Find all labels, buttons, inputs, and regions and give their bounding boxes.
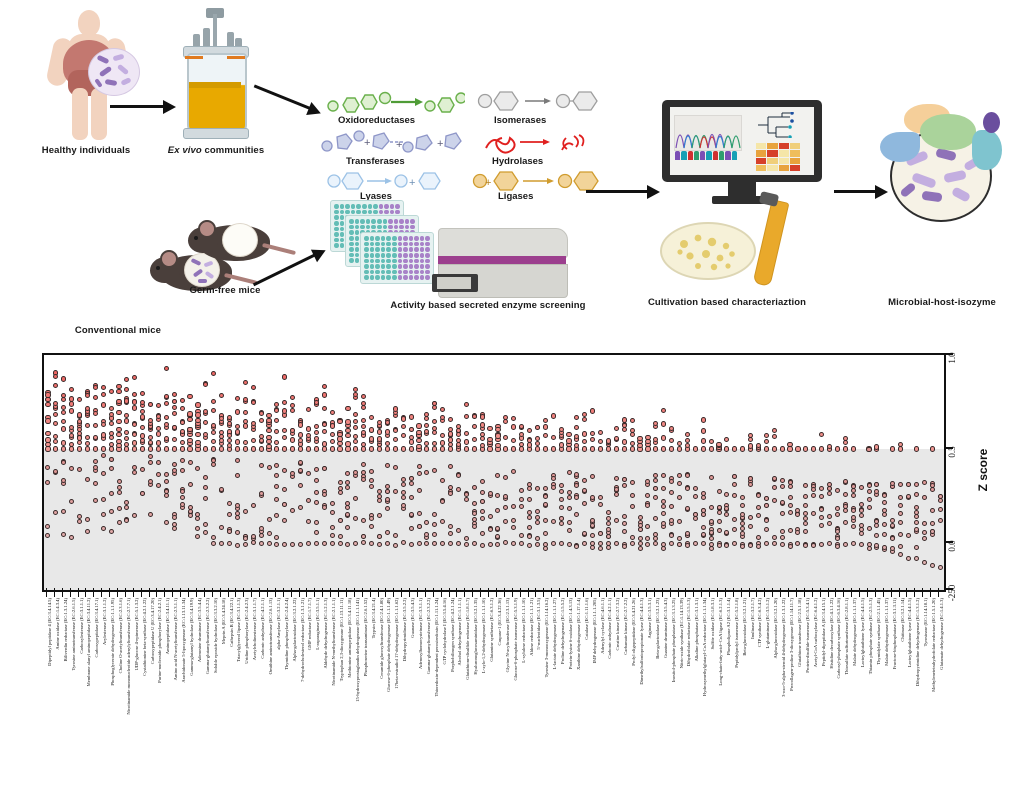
scatter-point (527, 525, 532, 530)
scatter-point (274, 429, 279, 434)
x-tick (464, 588, 465, 597)
x-tick (456, 588, 457, 597)
scatter-point (45, 446, 50, 451)
x-tick (654, 588, 655, 597)
scatter-point (282, 435, 287, 440)
scatter-point (535, 436, 540, 441)
scatter-point (606, 521, 611, 526)
scatter-point (353, 412, 358, 417)
scatter-point (259, 526, 264, 531)
y-axis-title: Z score (976, 449, 990, 492)
scatter-point (914, 482, 919, 487)
scatter-point (567, 490, 572, 495)
scatter-point (156, 483, 161, 488)
scatter-point (559, 489, 564, 494)
scatter-point (337, 436, 342, 441)
scatter-point (235, 543, 240, 548)
x-tick (883, 588, 884, 597)
scatter-point (306, 426, 311, 431)
svg-text:+: + (396, 139, 402, 151)
scatter-point (235, 473, 240, 478)
scatter-point (172, 437, 177, 442)
scatter-point (456, 528, 461, 533)
scatter-point (77, 519, 82, 524)
x-tick (812, 588, 813, 597)
svg-text:+: + (364, 137, 370, 149)
scatter-point (85, 393, 90, 398)
scatter-point (243, 410, 248, 415)
scatter-point (416, 444, 421, 449)
x-axis-label: Soluble epoxide hydrolase (EC:3.3.2.10) (214, 598, 219, 673)
x-axis-label: Carbonic anhydrase (EC:4.2.1.1) (261, 598, 266, 659)
scatter-point (843, 492, 848, 497)
scatter-point (353, 419, 358, 424)
scatter-point (195, 402, 200, 407)
scatter-point (487, 437, 492, 442)
scatter-point (503, 415, 508, 420)
scatter-point (235, 424, 240, 429)
scatter-point (243, 397, 248, 402)
arrow-cultivation-to-isozyme (834, 190, 878, 193)
scatter-point (559, 427, 564, 432)
scatter-point (124, 418, 129, 423)
scatter-point (338, 534, 343, 539)
scatter-point (843, 520, 848, 525)
scatter-point (582, 412, 587, 417)
scatter-point (709, 546, 714, 551)
label-isomerases: Isomerases (494, 115, 546, 126)
scatter-point (440, 433, 445, 438)
x-axis-label: Xanthine dehydrogenase (EC:1.17.1.4) (577, 598, 582, 670)
scatter-point (164, 520, 169, 525)
scatter-point (322, 392, 327, 397)
x-tick (393, 588, 394, 597)
scatter-point (337, 446, 342, 451)
x-tick (891, 588, 892, 597)
scatter-point (314, 500, 319, 505)
scatter-point (401, 433, 406, 438)
scatter-point (535, 520, 540, 525)
y-tick-label: 0.5 (947, 446, 957, 457)
scatter-point (914, 505, 919, 510)
scatter-point (559, 521, 564, 526)
scatter-point (314, 424, 319, 429)
scatter-point (85, 529, 90, 534)
x-tick (488, 588, 489, 597)
scatter-point (488, 514, 493, 519)
x-axis-label: Thioredoxin-dependent peroxiredoxin (EC:… (435, 598, 440, 696)
x-axis-label: 7-dehydrocholesterol reductase (EC:1.3.1… (301, 598, 306, 682)
x-tick (164, 588, 165, 597)
scatter-point (567, 520, 572, 525)
scatter-point (464, 431, 469, 436)
x-axis-label: Amino acid N-acetyltransferase (EC:2.3.1… (174, 598, 179, 680)
scatter-point (535, 441, 540, 446)
scatter-point (448, 437, 453, 442)
scatter-point (788, 495, 793, 500)
x-axis-label: Histidine decarboxylase (EC:4.1.1.22) (830, 598, 835, 669)
scatter-point (922, 560, 927, 565)
x-tick (701, 588, 702, 597)
x-axis-label: Creatine kinase (EC:2.7.3.2) (616, 598, 621, 650)
x-tick (378, 588, 379, 597)
label-ex-vivo-rest: communities (202, 145, 264, 156)
scatter-point (480, 479, 485, 484)
scatter-point (164, 479, 169, 484)
scatter-point (630, 535, 635, 540)
x-tick (504, 588, 505, 597)
scatter-point (243, 509, 248, 514)
scatter-point (353, 541, 358, 546)
x-tick (267, 588, 268, 597)
x-axis-ticks (42, 588, 942, 598)
scatter-point (267, 541, 272, 546)
scatter-point (717, 543, 722, 548)
scatter-point (748, 443, 753, 448)
scatter-point (306, 407, 311, 412)
scatter-point (353, 425, 358, 430)
x-axis-label: Ornithine aminotransferase (EC:2.6.1.13) (269, 598, 274, 674)
scatter-point (456, 473, 461, 478)
x-tick (709, 588, 710, 597)
x-tick (670, 588, 671, 597)
x-axis-label: Carbonic anhydrase (EC:4.2.1.1) (608, 598, 613, 659)
scatter-point (164, 415, 169, 420)
scatter-point (567, 470, 572, 475)
scatter-point (566, 432, 571, 437)
scatter-point (393, 533, 398, 538)
scatter-point (369, 415, 374, 420)
scatter-point (527, 442, 532, 447)
scatter-point (638, 546, 643, 551)
scatter-point (180, 398, 185, 403)
scatter-point (235, 439, 240, 444)
scatter-point (369, 446, 374, 451)
scatter-point (661, 408, 666, 413)
scatter-point (140, 467, 145, 472)
x-axis-label: Tyrosine aminotransferase (EC:2.6.1.5) (72, 598, 77, 671)
scatter-point (480, 509, 485, 514)
scatter-point (409, 414, 414, 419)
scatter-point (101, 392, 106, 397)
scatter-point (701, 532, 706, 537)
scatter-point (101, 385, 106, 390)
scatter-point (717, 489, 722, 494)
x-tick (717, 588, 718, 597)
scatter-point (590, 408, 595, 413)
scatter-point (472, 424, 477, 429)
scatter-point (464, 446, 469, 451)
x-axis-label: Glycine N-acyltransferase (EC:2.3.1.13) (506, 598, 511, 672)
scatter-point (243, 423, 248, 428)
x-axis-label: Carboxylesterase (EC:3.1.1.1) (80, 598, 85, 654)
scatter-point (61, 440, 66, 445)
x-axis-label: Inulinase (EC:3.2.1.7) (751, 598, 756, 639)
scatter-point (551, 413, 556, 418)
scatter-point (740, 446, 745, 451)
scatter-point (85, 477, 90, 482)
x-tick (835, 588, 836, 597)
scatter-point (622, 514, 627, 519)
scatter-point (274, 418, 279, 423)
scatter-point (227, 438, 232, 443)
scatter-point (930, 446, 935, 451)
scatter-point (527, 428, 532, 433)
x-axis-label: Adenosine deaminase (EC:3.5.4.4) (198, 598, 203, 662)
scatter-point (401, 416, 406, 421)
x-axis-label: Purine-nucleoside phosphorylase (EC:2.4.… (158, 598, 163, 683)
scatter-point (243, 440, 248, 445)
scatter-point (187, 411, 192, 416)
scatter-point (598, 439, 603, 444)
scatter-point (77, 440, 82, 445)
scatter-point (566, 446, 571, 451)
x-axis-label: Peptidylprolyl isomerase (EC:5.2.1.8) (735, 598, 740, 668)
scatter-point (77, 446, 82, 451)
scatter-point (187, 438, 192, 443)
x-tick (599, 588, 600, 597)
x-tick (70, 588, 71, 597)
x-tick (756, 588, 757, 597)
scatter-point (85, 446, 90, 451)
scatter-point (661, 421, 666, 426)
scatter-point (109, 431, 114, 436)
scatter-point (677, 495, 682, 500)
scatter-point (827, 521, 832, 526)
scatter-point (709, 519, 714, 524)
scatter-point (709, 439, 714, 444)
x-tick (228, 588, 229, 597)
scatter-point (622, 477, 627, 482)
scatter-point (148, 440, 153, 445)
scatter-point (535, 446, 540, 451)
x-tick (749, 588, 750, 597)
scatter-point (85, 441, 90, 446)
scatter-point (606, 510, 611, 515)
scatter-point (188, 460, 193, 465)
scatter-point (140, 433, 145, 438)
x-axis-label: Biliverdin reductase (EC:1.3.1.24) (64, 598, 69, 661)
x-axis-label: Alpha-galactosidase (EC:3.2.1.22) (293, 598, 298, 662)
scatter-point (85, 406, 90, 411)
scatter-point (432, 419, 437, 424)
scatter-point (369, 516, 374, 521)
x-tick (780, 588, 781, 597)
scatter-point (938, 565, 943, 570)
scatter-point (148, 460, 153, 465)
scatter-point (251, 385, 256, 390)
scatter-point (480, 543, 485, 548)
x-tick (109, 588, 110, 597)
scatter-point (132, 422, 137, 427)
scatter-point (109, 412, 114, 417)
scatter-point (416, 423, 421, 428)
scatter-point (109, 529, 114, 534)
scatter-point (101, 432, 106, 437)
scatter-point (148, 402, 153, 407)
scatter-point (330, 439, 335, 444)
scatter-point (914, 527, 919, 532)
scatter-point (93, 446, 98, 451)
scatter-point (566, 438, 571, 443)
scatter-point (606, 446, 611, 451)
x-axis-label: Trypsin (EC:3.4.21.4) (372, 598, 377, 638)
scatter-point (930, 508, 935, 513)
scatter-point (598, 430, 603, 435)
scatter-point (409, 446, 414, 451)
x-tick (62, 588, 63, 597)
scatter-point (787, 442, 792, 447)
scatter-point (314, 520, 319, 525)
svg-text:+: + (409, 177, 415, 189)
scatter-point (53, 421, 58, 426)
scatter-point (645, 446, 650, 451)
scatter-point (116, 384, 121, 389)
x-axis-label: Glucose-6-phosphate dehydrogenase (EC:1.… (387, 598, 392, 692)
scatter-point (780, 542, 785, 547)
scatter-point (851, 515, 856, 520)
scatter-point (322, 441, 327, 446)
scatter-point (259, 541, 264, 546)
scatter-point (156, 440, 161, 445)
scatter-point (930, 521, 935, 526)
scatter-point (101, 402, 106, 407)
scatter-point (235, 446, 240, 451)
scatter-point (867, 497, 872, 502)
scatter-point (472, 485, 477, 490)
scatter-point (519, 424, 524, 429)
x-tick (678, 588, 679, 597)
scatter-point (480, 422, 485, 427)
x-tick (338, 588, 339, 597)
scatter-point (298, 542, 303, 547)
scatter-point (764, 496, 769, 501)
label-ex-vivo-communities: Ex vivo communities (150, 145, 282, 156)
scatter-point (843, 479, 848, 484)
scatter-point (535, 536, 540, 541)
scatter-point (709, 505, 714, 510)
scatter-point (448, 446, 453, 451)
scatter-point (345, 441, 350, 446)
x-axis-label: Nicotinamide mononucleotide adenylyltran… (127, 598, 132, 715)
scatter-point (274, 440, 279, 445)
scatter-point (164, 366, 169, 371)
scatter-point (93, 423, 98, 428)
scatter-point (764, 439, 769, 444)
scatter-point (527, 543, 532, 548)
x-axis-label: Inositol-phosphate phosphatase (EC:3.1.3… (672, 598, 677, 682)
scatter-point (930, 529, 935, 534)
scatter-point (377, 542, 382, 547)
x-axis-label: Guanase (EC:3.5.4.3) (411, 598, 416, 638)
scatter-point (235, 458, 240, 463)
scatter-point (898, 446, 903, 451)
scatter-point (45, 437, 50, 442)
scatter-point (551, 476, 556, 481)
scatter-point (638, 541, 643, 546)
scatter-point (914, 446, 919, 451)
scatter-point (132, 432, 137, 437)
scatter-point (519, 497, 524, 502)
scatter-point (835, 536, 840, 541)
scatter-point (417, 524, 422, 529)
scatter-point (156, 460, 161, 465)
scatter-point (77, 412, 82, 417)
scatter-point (235, 396, 240, 401)
scatter-point (574, 415, 579, 420)
scatter-point (930, 487, 935, 492)
scatter-point (385, 441, 390, 446)
scatter-point (117, 479, 122, 484)
scatter-point (180, 446, 185, 451)
x-axis-label: Lactoylglutathione lyase (EC:4.4.1.5) (908, 598, 913, 667)
scatter-point (661, 435, 666, 440)
scatter-point (290, 471, 295, 476)
scatter-point (630, 480, 635, 485)
scatter-point (677, 536, 682, 541)
x-axis-label: Beta-galactosidase (EC:3.2.1.23) (656, 598, 661, 659)
scatter-point (677, 473, 682, 478)
scatter-point (172, 468, 177, 473)
scatter-point (551, 435, 556, 440)
scatter-point (322, 384, 327, 389)
scatter-point (290, 508, 295, 513)
scatter-point (401, 424, 406, 429)
scatter-point (859, 502, 864, 507)
scatter-point (361, 418, 366, 423)
scatter-point (140, 446, 145, 451)
scatter-point (172, 425, 177, 430)
scatter-point (740, 526, 745, 531)
scatter-point (638, 523, 643, 528)
scatter-point (203, 382, 208, 387)
scatter-point (732, 493, 737, 498)
x-axis-label: Carboxyl-phosphate synthase (EC:6.3.4.16… (837, 598, 842, 679)
scatter-point (353, 434, 358, 439)
x-axis-label: Procollagen-proline 3-dioxygenase (EC:1.… (790, 598, 795, 691)
x-axis-label: Beta-glucosidase (EC:3.2.1.21) (743, 598, 748, 656)
scatter-point (322, 492, 327, 497)
scatter-point (116, 399, 121, 404)
workflow-schematic: Healthy individuals Ex vivo communities … (0, 0, 1026, 345)
x-axis-label: L-xylo-1,2-dehydrogenase (EC:1.1.1.10) (482, 598, 487, 673)
x-tick (291, 588, 292, 597)
scatter-point (195, 440, 200, 445)
x-tick (930, 588, 931, 597)
label-conventional-mice: Conventional mice (38, 325, 198, 336)
scatter-point (409, 512, 414, 517)
x-tick (433, 588, 434, 597)
scatter-point (282, 374, 287, 379)
x-axis-label: Dihydropyrimidinase (EC:3.5.2.2) (403, 598, 408, 661)
gut-microbiota-inset (88, 48, 140, 96)
x-axis-label: Carboxypeptidase U (EC:3.4.17.20) (151, 598, 156, 664)
scatter-point (598, 446, 603, 451)
scatter-point (772, 446, 777, 451)
scatter-point (385, 463, 390, 468)
scatter-point (101, 453, 106, 458)
y-tick-label: 1.0 (947, 352, 957, 363)
scatter-point (890, 446, 895, 451)
scatter-point (598, 495, 603, 500)
scatter-point (464, 414, 469, 419)
x-axis-label: Alcohol dehydrogenase (EC:1.1.1.1) (458, 598, 463, 666)
scatter-point (69, 401, 74, 406)
x-tick (630, 588, 631, 597)
scatter-point (203, 485, 208, 490)
scatter-point (53, 434, 58, 439)
label-ex-vivo-italic: Ex vivo (168, 145, 202, 156)
